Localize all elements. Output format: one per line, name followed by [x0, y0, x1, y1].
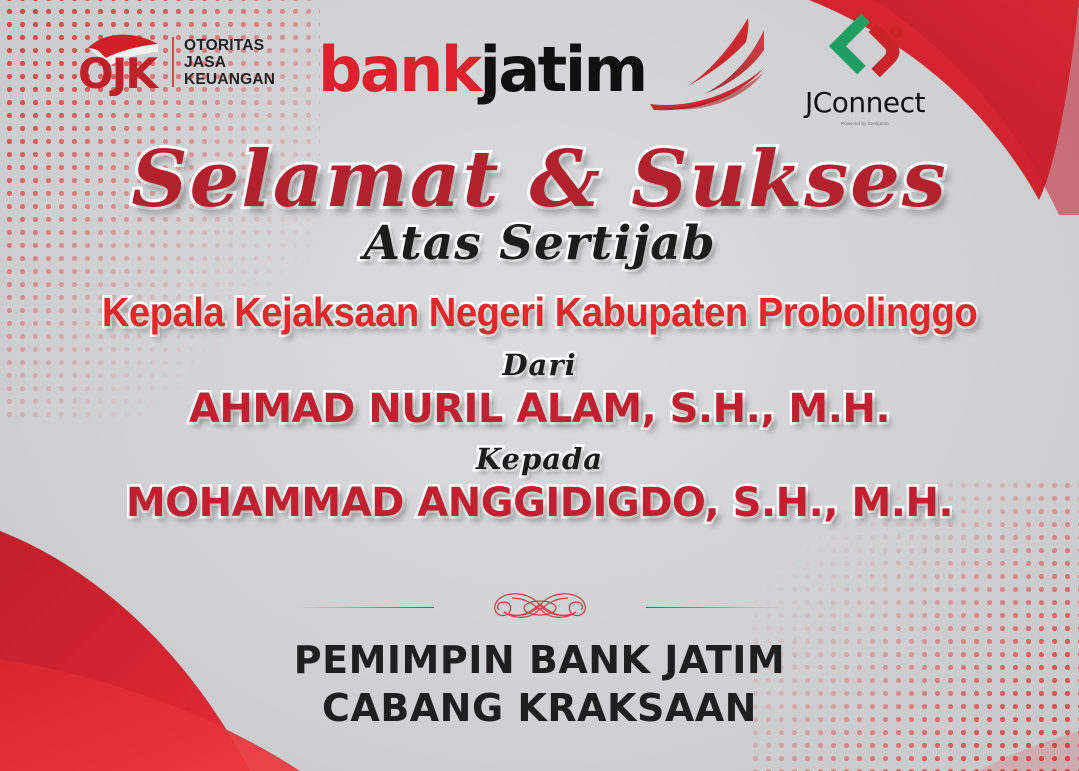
label-kepada: Kepada: [0, 442, 1079, 476]
bankjatim-word-jatim: jatim: [480, 39, 646, 101]
ojk-logo-mark: OJK: [70, 28, 162, 96]
svg-text:OJK: OJK: [78, 49, 159, 96]
outgoing-person-name: AHMAD NURIL ALAM, S.H., M.H.: [0, 386, 1079, 432]
jconnect-logo-mark: [812, 8, 918, 84]
flourish-ornament: [440, 588, 640, 627]
ojk-line-2: JASA: [184, 54, 275, 71]
jconnect-logo: JConnect Powered by bankjatim: [790, 8, 940, 126]
bankjatim-wing-icon: [648, 16, 768, 117]
headline-selamat-sukses: Selamat & Sukses: [0, 138, 1079, 222]
jconnect-name: JConnect: [790, 86, 940, 119]
jconnect-tagline: Powered by bankjatim: [794, 121, 937, 126]
position-title: Kepala Kejaksaan Negeri Kabupaten Probol…: [38, 288, 1041, 336]
footer-line-2: CABANG KRAKSAAN: [0, 684, 1079, 732]
bankjatim-word-bank: bank: [318, 39, 480, 101]
subtitle-atas-sertijab: Atas Sertijab: [0, 218, 1079, 270]
footer-signature: PEMIMPIN BANK JATIM CABANG KRAKSAAN: [0, 636, 1079, 732]
ojk-line-1: OTORITAS: [184, 37, 275, 54]
bankjatim-logo: bank jatim: [318, 22, 768, 117]
ojk-logo-text: OTORITAS JASA KEUANGAN: [184, 37, 275, 88]
divider: [0, 588, 1079, 627]
ojk-divider: [172, 37, 174, 87]
footer-line-1: PEMIMPIN BANK JATIM: [0, 636, 1079, 684]
logo-strip: OJK OTORITAS JASA KEUANGAN bank jatim: [0, 0, 1079, 128]
label-dari: Dari: [0, 348, 1079, 382]
congratulations-banner: OJK OTORITAS JASA KEUANGAN bank jatim: [0, 0, 1079, 771]
incoming-person-name: MOHAMMAD ANGGIDIGDO, S.H., M.H.: [0, 480, 1079, 526]
divider-line-right: [646, 607, 786, 608]
banner-content: Selamat & Sukses Atas Sertijab Kepala Ke…: [0, 138, 1079, 526]
ojk-line-3: KEUANGAN: [184, 71, 275, 88]
divider-line-left: [294, 607, 434, 608]
ojk-logo: OJK OTORITAS JASA KEUANGAN: [70, 28, 275, 96]
